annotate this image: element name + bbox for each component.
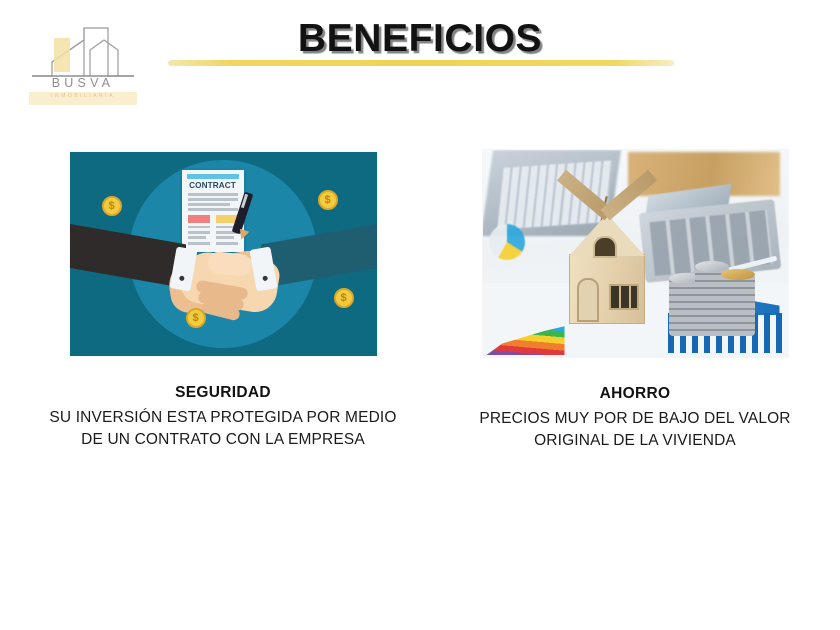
building-outline-icon [30,26,136,78]
dollar-coin-icon: $ [102,196,122,216]
benefit-column-ahorro: AHORRO PRECIOS MUY POR DE BAJO DEL VALOR… [440,150,830,452]
caption-ahorro: AHORRO PRECIOS MUY POR DE BAJO DEL VALOR… [440,383,830,452]
document-header-bar [187,174,239,179]
miniature-wooden-house [555,202,659,324]
house-door [577,278,599,322]
slide-header: BUSVA INMOBILIARIA BENEFICIOS [0,0,840,130]
logo-accent-swatch [54,38,70,72]
contract-document-label: CONTRACT [182,181,244,190]
page-title: BENEFICIOS [170,17,670,61]
cuff-button [178,275,184,281]
caption-body-seguridad: SU INVERSIÓN ESTA PROTEGIDA POR MEDIO DE… [28,407,418,451]
logo-tagline: INMOBILIARIA [22,93,144,99]
house-window [609,284,639,310]
coin-stack-top [721,269,755,280]
pie-chart-graphic [489,224,525,260]
logo-wordmark: BUSVA [22,76,144,90]
title-underline-rule [168,60,674,66]
dollar-coin-icon: $ [318,190,338,210]
dollar-coin-icon: $ [334,288,354,308]
cuff-button [262,275,268,281]
caption-body-ahorro: PRECIOS MUY POR DE BAJO DEL VALOR ORIGIN… [440,408,830,452]
dollar-coin-icon: $ [186,308,206,328]
caption-title-ahorro: AHORRO [440,383,830,405]
house-model-savings-photo [483,150,788,357]
contract-document-icon: CONTRACT [182,170,244,252]
caption-seguridad: SEGURIDAD SU INVERSIÓN ESTA PROTEGIDA PO… [28,382,418,451]
attic-window [593,236,617,258]
coin-stack [721,274,755,336]
benefit-column-seguridad: CONTRACT [28,150,418,451]
handshake-contract-illustration: CONTRACT [70,152,377,356]
caption-title-seguridad: SEGURIDAD [28,382,418,404]
busva-logo: BUSVA INMOBILIARIA [22,26,144,112]
